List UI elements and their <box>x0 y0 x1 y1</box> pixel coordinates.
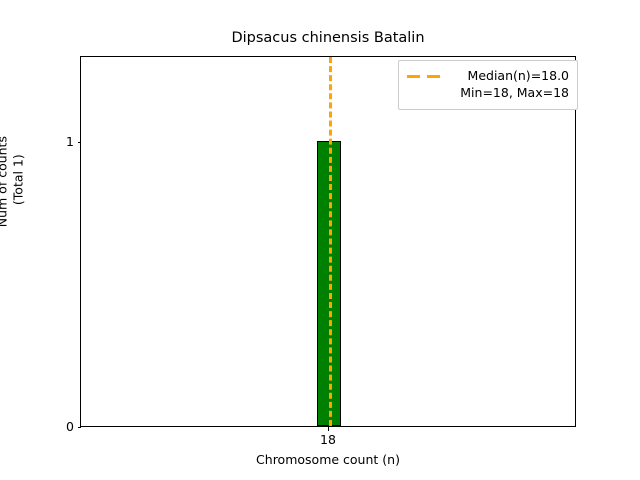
legend-label-line1: Median(n)=18.0 <box>451 67 569 84</box>
y-tick-label-1: 1 <box>56 134 74 149</box>
x-tick-label-18: 18 <box>298 432 358 447</box>
y-tick-label-0: 0 <box>56 419 74 434</box>
plot-area <box>80 56 576 427</box>
legend: Median(n)=18.0Min=18, Max=18 <box>398 60 578 110</box>
y-axis-label-line2: (Total 1) <box>10 154 25 209</box>
y-axis-label-line1: Num of counts <box>0 136 9 227</box>
legend-dash-2 <box>427 75 440 78</box>
y-axis-label: Num of counts (Total 1) <box>0 0 26 392</box>
x-tick-mark-18 <box>328 427 329 431</box>
legend-label-line2: Min=18, Max=18 <box>451 84 569 101</box>
chart-title: Dipsacus chinensis Batalin <box>80 30 576 46</box>
legend-swatch-median-line <box>407 68 443 85</box>
legend-label-median: Median(n)=18.0Min=18, Max=18 <box>451 67 569 102</box>
x-axis-label: Chromosome count (n) <box>80 452 576 467</box>
median-line <box>329 57 332 426</box>
chart-figure: Dipsacus chinensis Batalin Num of counts… <box>0 0 640 480</box>
y-tick-mark-1 <box>78 142 82 143</box>
y-tick-mark-0 <box>78 427 82 428</box>
legend-dash-1 <box>407 75 420 78</box>
